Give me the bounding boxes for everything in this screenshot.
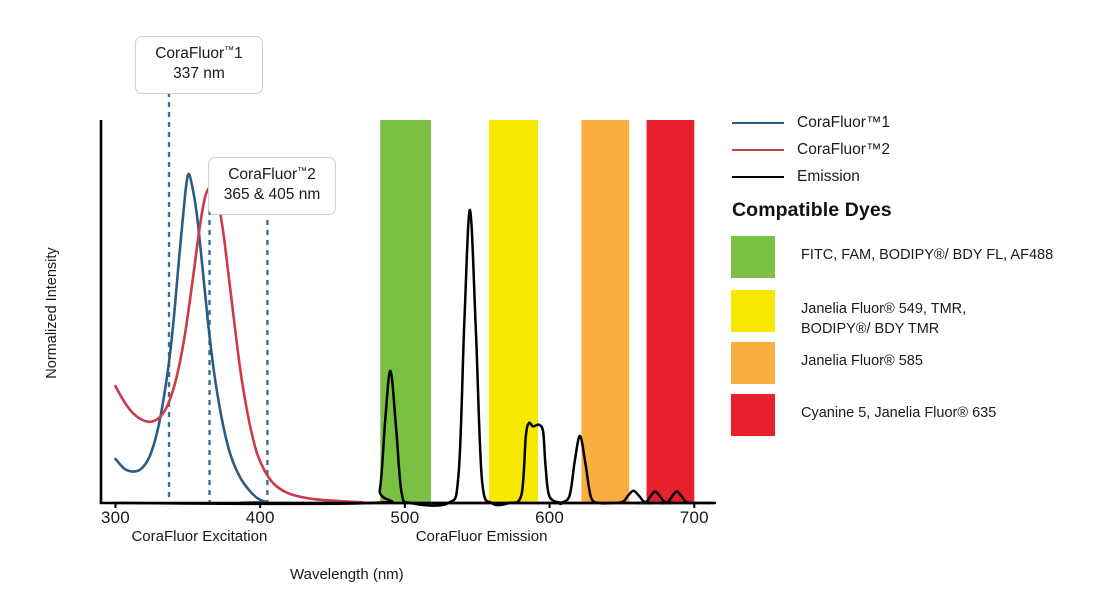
- region-label-emission: CoraFluor Emission: [372, 528, 592, 545]
- compatible-dyes-title: Compatible Dyes: [732, 199, 892, 222]
- legend-line-icon: [732, 122, 784, 124]
- corafluor2-callout: CoraFluor™2 365 & 405 nm: [208, 157, 336, 215]
- red-band: [647, 120, 695, 503]
- x-tick-label-700: 700: [664, 508, 724, 528]
- green-band: [380, 120, 431, 503]
- corafluor2-callout-line1: CoraFluor™2: [219, 165, 325, 185]
- side-panel: CoraFluor™1CoraFluor™2Emission Compatibl…: [730, 0, 1110, 612]
- dye-item-label: Janelia Fluor® 549, TMR, BODIPY®/ BDY TM…: [801, 290, 966, 339]
- legend-item-1[interactable]: CoraFluor™2: [730, 139, 890, 161]
- corafluor1-callout-line1: CoraFluor™1: [146, 44, 252, 64]
- chart-panel: Normalized Intensity Wavelength (nm) 300…: [0, 0, 730, 612]
- legend-item-label: Emission: [797, 168, 860, 186]
- dye-color-swatch: [731, 394, 775, 436]
- corafluor1-callout: CoraFluor™1 337 nm: [135, 36, 263, 94]
- dye-color-swatch: [731, 342, 775, 384]
- dye-item-label: Janelia Fluor® 585: [801, 342, 923, 372]
- region-label-excitation: CoraFluor Excitation: [89, 528, 309, 545]
- legend-item-label: CoraFluor™2: [797, 141, 890, 159]
- x-tick-label-600: 600: [520, 508, 580, 528]
- dye-item-label: Cyanine 5, Janelia Fluor® 635: [801, 394, 996, 424]
- x-tick-label-500: 500: [375, 508, 435, 528]
- trademark-icon: ™: [224, 45, 234, 56]
- dye-item-3[interactable]: Cyanine 5, Janelia Fluor® 635: [730, 394, 996, 436]
- corafluor2-callout-line2: 365 & 405 nm: [219, 185, 325, 205]
- dye-item-1[interactable]: Janelia Fluor® 549, TMR, BODIPY®/ BDY TM…: [730, 290, 966, 339]
- legend-item-0[interactable]: CoraFluor™1: [730, 112, 890, 134]
- legend-item-label: CoraFluor™1: [797, 114, 890, 132]
- orange-band: [581, 120, 629, 503]
- yellow-band: [489, 120, 538, 503]
- legend-item-2[interactable]: Emission: [730, 166, 860, 188]
- legend-line-icon: [732, 176, 784, 178]
- corafluor1-callout-line2: 337 nm: [146, 64, 252, 84]
- legend-line-icon: [732, 149, 784, 151]
- y-axis-label: Normalized Intensity: [44, 223, 60, 403]
- dye-item-2[interactable]: Janelia Fluor® 585: [730, 342, 923, 384]
- dye-item-0[interactable]: FITC, FAM, BODIPY®/ BDY FL, AF488: [730, 236, 1053, 278]
- trademark-icon: ™: [297, 166, 307, 177]
- dye-color-swatch: [731, 290, 775, 332]
- spectra-figure: Normalized Intensity Wavelength (nm) 300…: [0, 0, 1110, 612]
- x-axis-title: Wavelength (nm): [290, 566, 404, 583]
- x-tick-label-300: 300: [85, 508, 145, 528]
- x-tick-label-400: 400: [230, 508, 290, 528]
- dye-color-swatch: [731, 236, 775, 278]
- dye-item-label: FITC, FAM, BODIPY®/ BDY FL, AF488: [801, 236, 1053, 266]
